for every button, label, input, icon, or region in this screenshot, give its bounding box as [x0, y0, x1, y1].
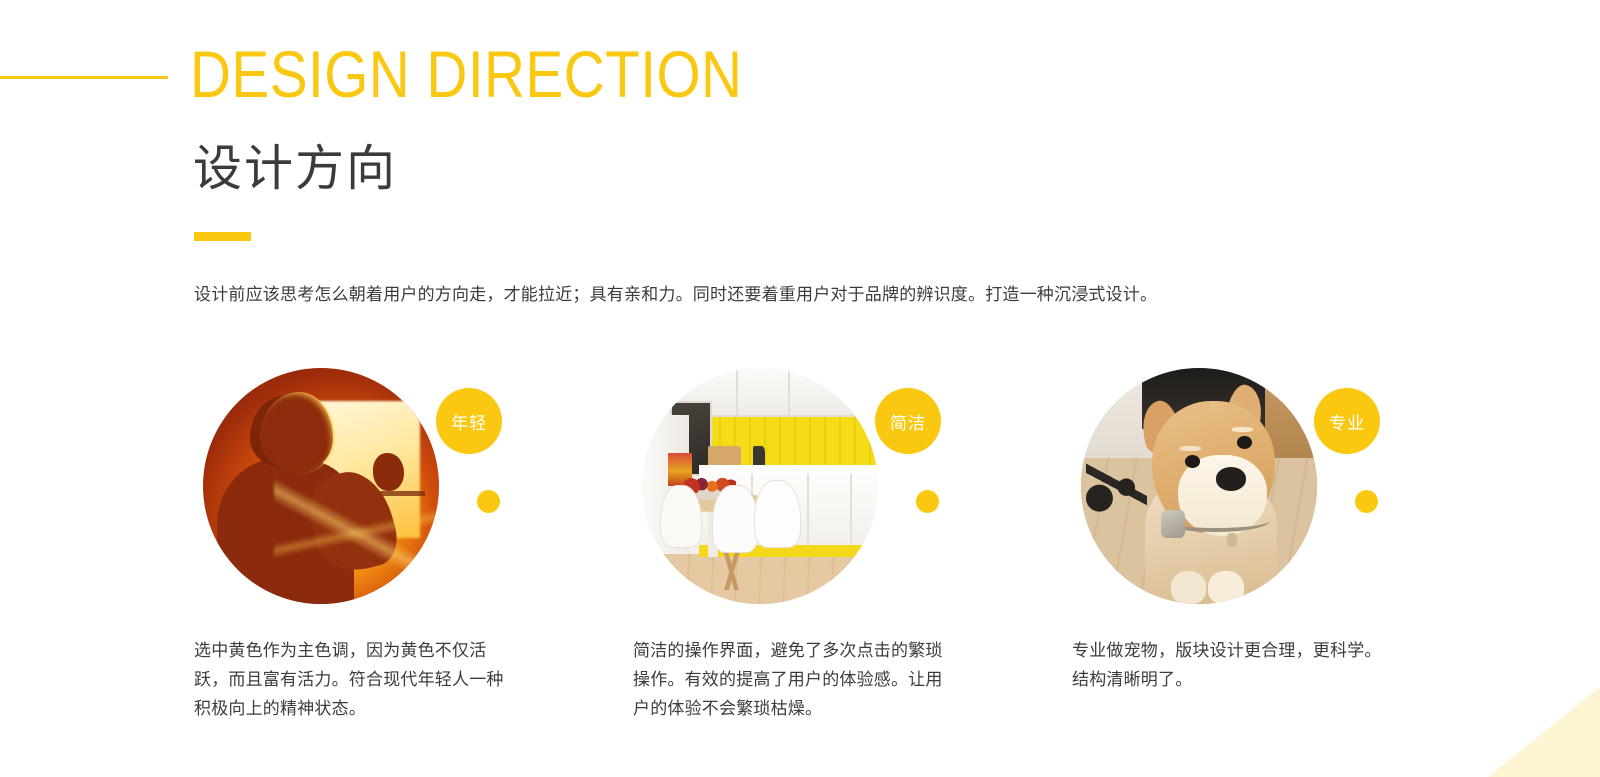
feature-column: 简洁 简洁的操作界面，避免了多次点击的繁琐操作。有效的提高了用户的体验感。让用户…	[633, 358, 939, 606]
page-title-chinese: 设计方向	[193, 140, 397, 198]
dog-paw-right	[1208, 571, 1243, 604]
page-title-english: DESIGN DIRECTION	[190, 38, 742, 110]
dog-eye-left	[1185, 455, 1200, 468]
photo-background	[642, 368, 878, 604]
dog-brow-right	[1232, 427, 1253, 432]
dog-collar-charm	[1161, 510, 1185, 538]
chair	[713, 486, 758, 552]
corner-decoration	[1488, 687, 1600, 777]
feature-caption: 选中黄色作为主色调，因为黄色不仅活跃，而且富有活力。符合现代年轻人一种积极向上的…	[194, 636, 504, 723]
cabinet-seam	[850, 474, 852, 550]
photo-background	[203, 368, 439, 604]
feature-badge[interactable]: 年轻	[436, 388, 502, 454]
photo-shiba-inu-dog	[1081, 368, 1317, 604]
title-accent-rule	[0, 76, 168, 79]
feature-badge[interactable]: 专业	[1314, 388, 1380, 454]
cabinet-seam	[807, 474, 809, 550]
photo-sunset-silhouette	[203, 368, 439, 604]
accent-dot	[1355, 490, 1378, 513]
feature-column: 专业 专业做宠物，版块设计更合理，更科学。结构清晰明了。	[1072, 358, 1378, 606]
lens-flare	[274, 472, 439, 595]
feature-badge[interactable]: 简洁	[875, 388, 941, 454]
slide-design-direction: DESIGN DIRECTION 设计方向 设计前应该思考怎么朝着用户的方向走，…	[0, 0, 1600, 777]
photo-background	[1081, 368, 1317, 604]
upper-cabinets	[684, 368, 878, 417]
chair	[755, 481, 800, 547]
cabinet-seam	[788, 368, 790, 415]
feature-media: 年轻	[194, 358, 500, 606]
dog-brow-left	[1180, 446, 1201, 451]
dog-nose	[1216, 467, 1247, 491]
intro-paragraph: 设计前应该思考怎么朝着用户的方向走，才能拉近；具有亲和力。同时还要着重用户对于品…	[194, 282, 1444, 308]
feature-columns: 年轻 选中黄色作为主色调，因为黄色不仅活跃，而且富有活力。符合现代年轻人一种积极…	[194, 358, 1444, 606]
dog-tag	[1227, 533, 1236, 547]
cabinet-seam	[736, 368, 738, 415]
title-underline-dash	[194, 232, 251, 241]
feature-column: 年轻 选中黄色作为主色调，因为黄色不仅活跃，而且富有活力。符合现代年轻人一种积极…	[194, 358, 500, 606]
feature-caption: 专业做宠物，版块设计更合理，更科学。结构清晰明了。	[1072, 636, 1382, 694]
feature-caption: 简洁的操作界面，避免了多次点击的繁琐操作。有效的提高了用户的体验感。让用户的体验…	[633, 636, 943, 723]
photo-yellow-kitchen	[642, 368, 878, 604]
chair	[661, 486, 701, 547]
feature-media: 简洁	[633, 358, 939, 606]
accent-dot	[916, 490, 939, 513]
dog-paw-left	[1171, 571, 1206, 604]
office-chair-base	[1086, 453, 1147, 514]
feature-media: 专业	[1072, 358, 1378, 606]
accent-dot	[477, 490, 500, 513]
